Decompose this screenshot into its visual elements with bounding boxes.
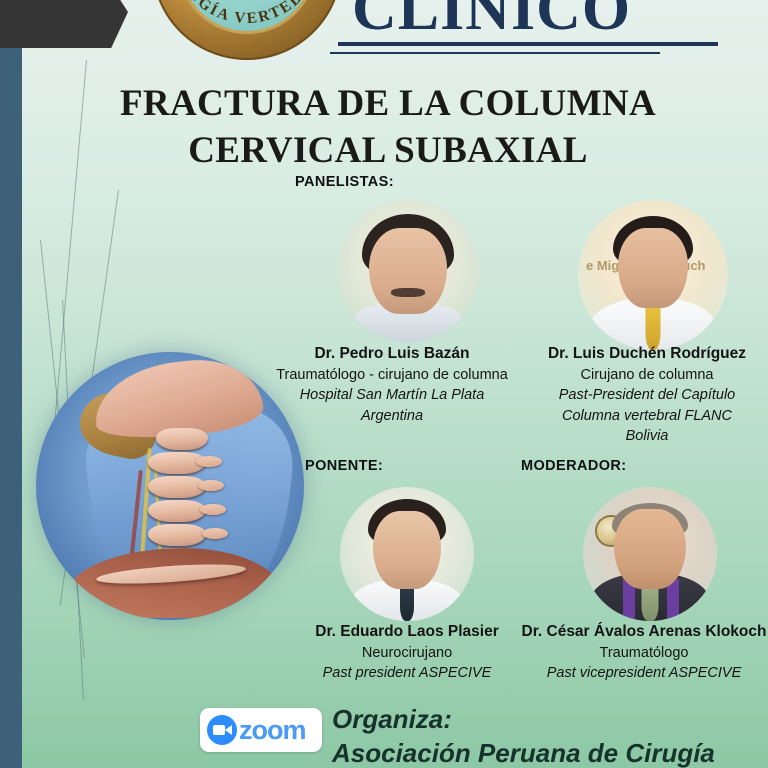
panelist-2-info: Dr. Luis Duchén Rodríguez Cirujano de co…	[527, 344, 767, 446]
organiza-label: Organiza:	[332, 702, 715, 736]
panelist-2-role: Cirujano de columna	[527, 365, 767, 385]
anatomy-vertebra-c2	[156, 428, 208, 450]
moderator-info: Dr. César Ávalos Arenas Klokoch Traumató…	[520, 622, 768, 684]
title-rule-thick	[338, 42, 718, 46]
organizer-line-1: Asociación Peruana de Cirugía	[332, 736, 715, 768]
conference-poster: CIRUGÍA VERTEBRAL CLÍNICO FRACTURA DE LA…	[0, 0, 768, 768]
badge-arc-label: CIRUGÍA VERTEBRAL	[169, 0, 326, 27]
anatomy-vertebra-c6	[148, 524, 206, 546]
organizer-block: Organiza: Asociación Peruana de Cirugía …	[332, 702, 715, 768]
video-camera-icon	[207, 715, 237, 745]
label-ponente: PONENTE:	[305, 458, 383, 474]
portrait-2-sign-left: e Mig	[586, 258, 619, 273]
anatomy-process-1	[196, 456, 222, 467]
anatomy-process-4	[202, 528, 228, 539]
panelist-1-name: Dr. Pedro Luis Bazán	[262, 344, 522, 365]
speaker-info: Dr. Eduardo Laos Plasier Neurocirujano P…	[287, 622, 527, 684]
portrait-3-face	[373, 511, 441, 589]
portrait-panelist-1	[337, 200, 479, 342]
speaker-affiliation: Past president ASPECIVE	[287, 663, 527, 683]
speaker-name: Dr. Eduardo Laos Plasier	[287, 622, 527, 643]
anatomy-process-2	[198, 480, 224, 491]
zoom-logo: zoom	[200, 708, 322, 752]
portrait-4-face	[614, 509, 686, 589]
portrait-1-moustache	[391, 288, 425, 297]
panelist-1-info: Dr. Pedro Luis Bazán Traumatólogo - ciru…	[262, 344, 522, 426]
panelist-2-name: Dr. Luis Duchén Rodríguez	[527, 344, 767, 365]
portrait-speaker	[340, 487, 474, 621]
panelist-1-affiliation: Hospital San Martín La Plata	[262, 385, 522, 405]
portrait-1-face	[369, 228, 447, 314]
anatomy-vertebra-c4	[148, 476, 206, 498]
label-panelistas: PANELISTAS:	[295, 174, 394, 190]
moderator-affiliation: Past vicepresident ASPECIVE	[520, 663, 768, 683]
label-moderador: MODERADOR:	[521, 458, 627, 474]
badge-arc-text: CIRUGÍA VERTEBRAL	[152, 0, 342, 60]
panelist-2-affiliation-line-1: Past-President del Capítulo	[527, 385, 767, 405]
left-accent-bar	[0, 44, 22, 768]
portrait-4-tie	[642, 585, 659, 621]
moderator-name: Dr. César Ávalos Arenas Klokoch	[520, 622, 768, 643]
moderator-role: Traumatólogo	[520, 643, 768, 663]
main-title-line-2: CERVICAL SUBAXIAL	[78, 127, 698, 174]
portrait-panelist-2: e Mig Duch	[578, 200, 728, 350]
panelist-2-affiliation-line-2: Columna vertebral FLANC	[527, 406, 767, 426]
top-left-banner-tip	[86, 0, 128, 48]
panelist-1-country: Argentina	[262, 406, 522, 426]
panelist-2-country: Bolivia	[527, 426, 767, 446]
panelist-1-role: Traumatólogo - cirujano de columna	[262, 365, 522, 385]
society-logo: CIRUGÍA VERTEBRAL	[152, 0, 342, 60]
title-rule-thin	[330, 52, 660, 54]
svg-text:CIRUGÍA VERTEBRAL: CIRUGÍA VERTEBRAL	[169, 0, 326, 27]
speaker-role: Neurocirujano	[287, 643, 527, 663]
anatomy-vertebra-c5	[148, 500, 206, 522]
portrait-2-face	[618, 228, 688, 308]
portrait-moderator	[583, 487, 717, 621]
zoom-wordmark: zoom	[239, 715, 306, 746]
anatomy-process-3	[200, 504, 226, 515]
portrait-3-tie	[400, 585, 414, 621]
page-title-clinico: CLÍNICO	[352, 0, 631, 45]
main-title: FRACTURA DE LA COLUMNA CERVICAL SUBAXIAL	[78, 80, 698, 175]
main-title-line-1: FRACTURA DE LA COLUMNA	[78, 80, 698, 127]
